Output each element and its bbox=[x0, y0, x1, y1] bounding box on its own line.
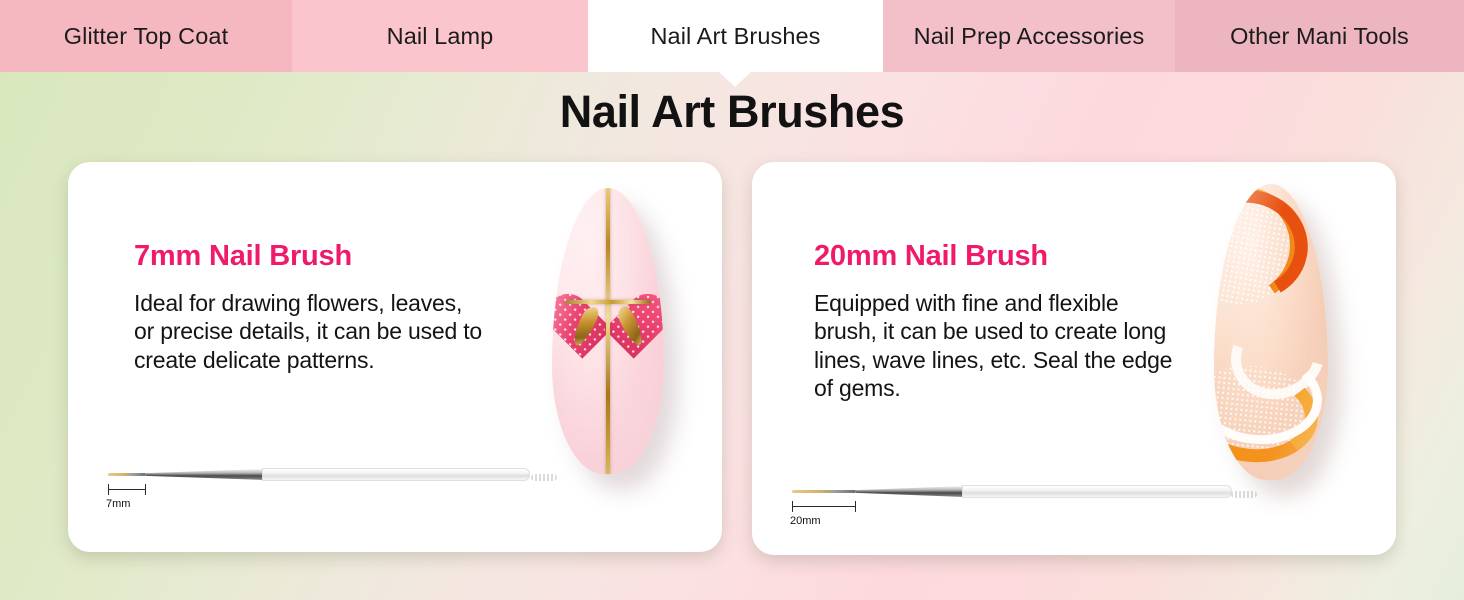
card-title: 20mm Nail Brush bbox=[814, 240, 1174, 273]
brush-icon bbox=[108, 466, 528, 484]
card-description: Equipped with fine and flexible brush, i… bbox=[814, 289, 1174, 402]
gold-vertical-ribbon bbox=[606, 188, 610, 474]
category-tab-bar: Glitter Top Coat Nail Lamp Nail Art Brus… bbox=[0, 0, 1464, 72]
brush-size-label: 7mm bbox=[106, 498, 130, 510]
dimension-cap-left bbox=[792, 501, 793, 512]
brush-size-dimension: 7mm bbox=[108, 484, 146, 496]
dimension-line bbox=[792, 506, 856, 507]
brush-size-dimension: 20mm bbox=[792, 501, 856, 513]
brush-ferrule bbox=[146, 469, 264, 480]
nail-shape bbox=[552, 188, 664, 474]
tab-label: Nail Lamp bbox=[387, 23, 494, 50]
card-text-block: 7mm Nail Brush Ideal for drawing flowers… bbox=[134, 240, 484, 374]
tab-label: Nail Prep Accessories bbox=[914, 23, 1145, 50]
product-card-7mm: 7mm Nail Brush Ideal for drawing flowers… bbox=[68, 162, 722, 552]
brush-illustration: 7mm bbox=[108, 458, 528, 516]
tab-label: Other Mani Tools bbox=[1230, 23, 1409, 50]
nail-art-image-7mm bbox=[498, 172, 722, 552]
dimension-cap-left bbox=[108, 484, 109, 495]
gold-horizontal-ribbon bbox=[566, 300, 650, 304]
active-tab-pointer-icon bbox=[718, 71, 752, 87]
tab-nail-lamp[interactable]: Nail Lamp bbox=[292, 0, 588, 72]
tab-nail-prep-accessories[interactable]: Nail Prep Accessories bbox=[883, 0, 1175, 72]
dimension-cap-right bbox=[145, 484, 146, 495]
tab-glitter-top-coat[interactable]: Glitter Top Coat bbox=[0, 0, 292, 72]
tab-other-mani-tools[interactable]: Other Mani Tools bbox=[1175, 0, 1464, 72]
page-root: Glitter Top Coat Nail Lamp Nail Art Brus… bbox=[0, 0, 1464, 600]
tab-label: Nail Art Brushes bbox=[650, 23, 820, 50]
brush-icon bbox=[792, 483, 1212, 501]
brush-illustration: 20mm bbox=[792, 475, 1212, 533]
brush-ferrule bbox=[856, 486, 964, 497]
product-card-20mm: 20mm Nail Brush Equipped with fine and f… bbox=[752, 162, 1396, 555]
nail-art-image-20mm bbox=[1152, 170, 1396, 555]
brush-size-label: 20mm bbox=[790, 515, 821, 527]
orange-gloss-swirl-top bbox=[1214, 184, 1320, 313]
card-description: Ideal for drawing flowers, leaves, or pr… bbox=[134, 289, 484, 374]
card-text-block: 20mm Nail Brush Equipped with fine and f… bbox=[814, 240, 1174, 402]
nail-shape bbox=[1214, 184, 1328, 480]
brush-bristles bbox=[108, 473, 146, 476]
card-title: 7mm Nail Brush bbox=[134, 240, 484, 273]
tab-nail-art-brushes[interactable]: Nail Art Brushes bbox=[588, 0, 883, 72]
brush-handle bbox=[262, 468, 530, 481]
tab-label: Glitter Top Coat bbox=[64, 23, 228, 50]
dimension-cap-right bbox=[855, 501, 856, 512]
brush-bristles bbox=[792, 490, 856, 493]
dimension-line bbox=[108, 489, 146, 490]
page-title: Nail Art Brushes bbox=[0, 86, 1464, 138]
